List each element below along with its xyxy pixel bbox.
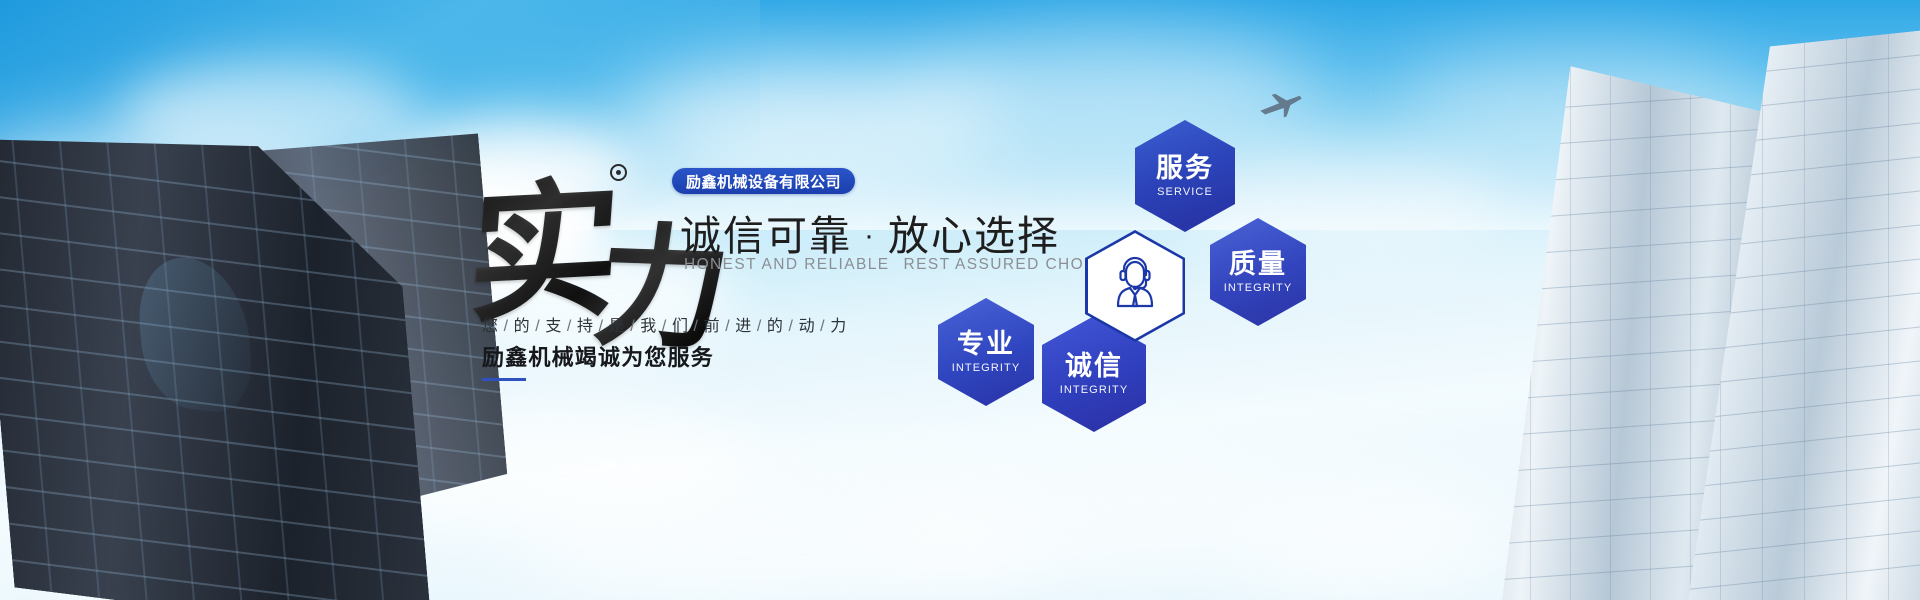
company-badge: 励鑫机械设备有限公司 — [672, 168, 855, 194]
support-separator: / — [694, 318, 699, 335]
slogan-en-part-1: HONEST AND RELIABLE — [684, 256, 890, 273]
support-separator: / — [599, 318, 604, 335]
customer-service-agent-icon — [1113, 256, 1157, 308]
support-char: 我 — [640, 318, 657, 335]
hexagon-credibility-en: INTEGRITY — [1060, 384, 1129, 396]
support-separator: / — [630, 318, 635, 335]
circle-dot-icon — [610, 164, 627, 181]
support-separator: / — [504, 318, 509, 335]
support-separator: / — [662, 318, 667, 335]
support-line: 您/的/支/持/是/我/们/前/进/的/动/力 — [482, 312, 847, 336]
hexagon-service-cn: 服务 — [1156, 154, 1214, 184]
hexagon-professional-cn: 专业 — [957, 330, 1015, 360]
support-char: 进 — [735, 318, 752, 335]
support-char: 力 — [830, 318, 847, 335]
hexagon-credibility-cn: 诚信 — [1065, 352, 1123, 382]
support-separator: / — [757, 318, 762, 335]
hexagon-quality-cn: 质量 — [1229, 250, 1287, 280]
airplane-icon — [1258, 92, 1304, 122]
support-char: 的 — [767, 318, 784, 335]
support-char: 们 — [672, 318, 689, 335]
hexagon-service[interactable]: 服务 SERVICE — [1135, 120, 1235, 232]
support-separator: / — [789, 318, 794, 335]
hexagon-service-en: SERVICE — [1157, 186, 1213, 198]
support-separator: / — [535, 318, 540, 335]
building-left — [0, 70, 535, 600]
service-line: 励鑫机械竭诚为您服务 — [482, 340, 714, 372]
hexagon-professional-en: INTEGRITY — [952, 362, 1021, 374]
hexagon-quality-en: INTEGRITY — [1224, 282, 1293, 294]
support-separator: / — [725, 318, 730, 335]
building-right — [1420, 40, 1920, 600]
hexagon-professional[interactable]: 专业 INTEGRITY — [938, 298, 1034, 406]
accent-underline — [482, 378, 526, 381]
support-char: 支 — [545, 318, 562, 335]
slogan-part-1: 诚信可靠 — [680, 213, 852, 259]
support-char: 持 — [577, 318, 594, 335]
support-char: 您 — [482, 318, 499, 335]
slogan-separator: · — [864, 219, 876, 252]
hexagon-cluster: 服务 SERVICE 质量 INTEGRITY 专业 INTEGRITY 诚信 … — [930, 120, 1310, 420]
support-char: 的 — [514, 318, 531, 335]
support-char: 动 — [799, 318, 816, 335]
hero-banner: 实 力 励鑫机械设备有限公司 诚信可靠·放心选择 HONEST AND RELI… — [0, 0, 1920, 600]
support-char: 前 — [704, 318, 721, 335]
hexagon-quality[interactable]: 质量 INTEGRITY — [1210, 218, 1306, 326]
support-separator: / — [820, 318, 825, 335]
support-separator: / — [567, 318, 572, 335]
support-char: 是 — [609, 318, 626, 335]
